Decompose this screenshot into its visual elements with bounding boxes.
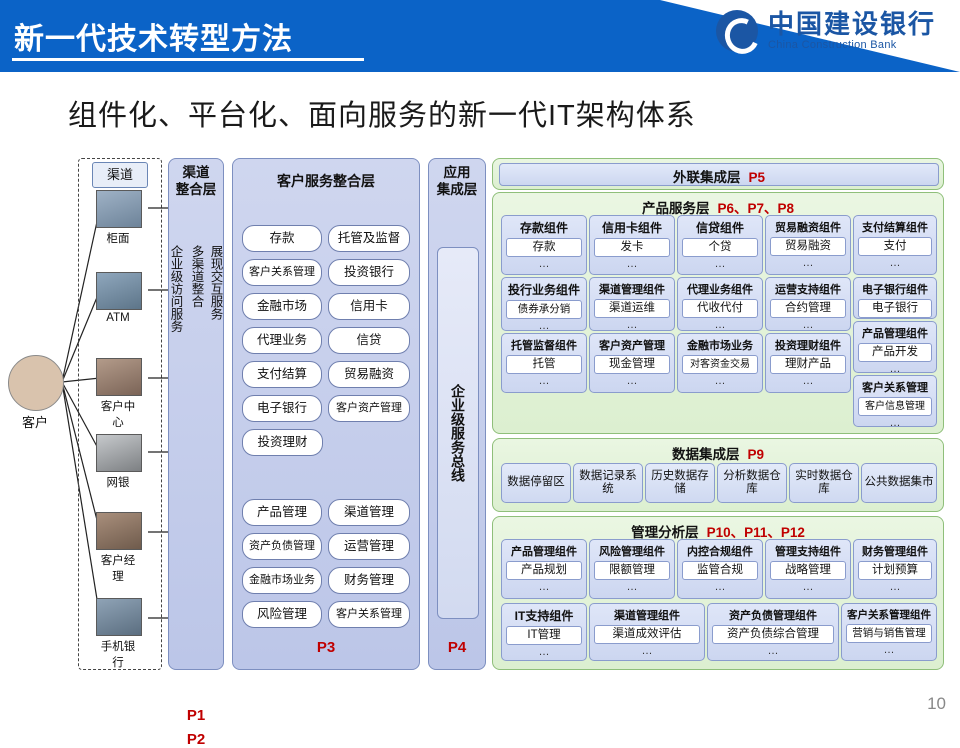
channel-label: 网银	[96, 474, 140, 490]
component-card[interactable]: 支付结算组件 支付 …	[853, 215, 937, 275]
channel-label: 客户经理	[96, 552, 140, 584]
card-dots: …	[842, 645, 936, 656]
service-pill[interactable]: 金融市场业务	[242, 567, 322, 594]
component-card[interactable]: 信贷组件 个贷 …	[677, 215, 763, 275]
card-item: 贸易融资	[770, 237, 846, 256]
data-box[interactable]: 公共数据集市	[861, 463, 937, 503]
data-integration-title-text: 数据集成层	[672, 447, 740, 462]
group-management-analysis-title: 管理分析层P10、P11、P12	[493, 517, 943, 541]
service-pill[interactable]: 贸易融资	[328, 361, 410, 388]
card-title: 资产负债管理组件	[708, 604, 838, 625]
group-data-integration: 数据集成层P9 数据停留区 数据记录系统 历史数据存储 分析数据仓库 实时数据仓…	[492, 438, 944, 512]
group-external-integration-title: 外联集成层P5	[500, 164, 938, 186]
card-dots: …	[502, 259, 586, 270]
service-pill[interactable]: 资产负债管理	[242, 533, 322, 560]
group-management-analysis: 管理分析层P10、P11、P12 产品管理组件 产品规划 … 风险管理组件 限额…	[492, 516, 944, 670]
card-dots: …	[854, 364, 936, 375]
channel-label: 柜面	[96, 230, 140, 246]
header-underline	[12, 58, 364, 61]
card-item: 电子银行	[858, 299, 932, 318]
column-channel-integration-title: 渠道整合层	[169, 159, 223, 199]
card-item: 发卡	[594, 238, 670, 257]
card-item: 支付	[858, 237, 932, 256]
group-data-integration-title: 数据集成层P9	[493, 439, 943, 463]
data-box[interactable]: 分析数据仓库	[717, 463, 787, 503]
card-dots: …	[766, 376, 850, 387]
channel-online-banking[interactable]: 网银	[96, 434, 140, 490]
component-card[interactable]: 代理业务组件 代收代付 …	[677, 277, 763, 331]
service-pill[interactable]: 存款	[242, 225, 322, 252]
channel-label: 客户中心	[96, 398, 140, 430]
customer-label: 客户	[3, 412, 67, 431]
card-item: 营销与销售管理	[846, 624, 932, 643]
product-service-pn: P6、P7、P8	[717, 201, 794, 216]
card-title: 贸易融资组件	[766, 216, 850, 237]
card-title: 渠道管理组件	[590, 604, 704, 625]
card-item: 现金管理	[594, 355, 670, 374]
card-title: 财务管理组件	[854, 540, 936, 561]
ccb-logo-text: 中国建设银行 China Construction Bank	[768, 10, 936, 51]
service-pill[interactable]: 客户关系管理	[328, 601, 410, 628]
data-box[interactable]: 历史数据存储	[645, 463, 715, 503]
ccb-logo-en: China Construction Bank	[768, 39, 936, 51]
card-dots: …	[590, 582, 674, 593]
group-product-service: 产品服务层P6、P7、P8 存款组件 存款 … 信用卡组件 发卡 … 信贷组件 …	[492, 192, 944, 434]
card-title: 管理支持组件	[766, 540, 850, 561]
component-card[interactable]: 电子银行组件 电子银行	[853, 277, 937, 319]
service-pill[interactable]: 风险管理	[242, 601, 322, 628]
component-card[interactable]: IT支持组件 IT管理 …	[501, 603, 587, 661]
channel-mobile-banking[interactable]: 手机银行	[96, 598, 140, 670]
component-card[interactable]: 投资理财组件 理财产品 …	[765, 333, 851, 393]
component-card[interactable]: 客户资产管理 现金管理 …	[589, 333, 675, 393]
tag-p1: P1	[169, 707, 223, 724]
service-pill[interactable]: 代理业务	[242, 327, 322, 354]
component-card[interactable]: 托管监督组件 托管 …	[501, 333, 587, 393]
card-title: 渠道管理组件	[590, 278, 674, 299]
card-item: 代收代付	[682, 299, 758, 318]
component-card[interactable]: 管理支持组件 战略管理 …	[765, 539, 851, 599]
card-title: IT支持组件	[502, 604, 586, 626]
service-pill[interactable]: 渠道管理	[328, 499, 410, 526]
slide-number: 10	[927, 694, 946, 714]
card-item: 产品开发	[858, 343, 932, 362]
card-item: 渠道成效评估	[594, 625, 700, 644]
external-pn: P5	[748, 170, 765, 185]
service-pill[interactable]: 支付结算	[242, 361, 322, 388]
management-analysis-pn: P10、P11、P12	[707, 525, 805, 540]
channel-photo-icon	[96, 434, 142, 472]
ccb-logo-cn: 中国建设银行	[768, 10, 936, 39]
customer-avatar	[8, 355, 64, 411]
component-card[interactable]: 内控合规组件 监管合规 …	[677, 539, 763, 599]
data-integration-pn: P9	[747, 447, 764, 462]
channel-label: ATM	[96, 312, 140, 324]
card-title: 内控合规组件	[678, 540, 762, 561]
tag-p4: P4	[429, 639, 485, 656]
channel-counter[interactable]: 柜面	[96, 190, 140, 246]
channel-group-label: 渠道	[92, 162, 148, 188]
column-customer-service: 客户服务整合层 存款托管及监督 客户关系管理投资银行 金融市场信用卡 代理业务信…	[232, 158, 420, 670]
card-item: 战略管理	[770, 561, 846, 580]
tag-p3: P3	[233, 639, 419, 656]
service-pill[interactable]: 投资理财	[242, 429, 323, 456]
channel-photo-icon	[96, 358, 142, 396]
component-card[interactable]: 产品管理组件 产品开发 …	[853, 321, 937, 373]
card-dots: …	[766, 320, 850, 331]
card-dots: …	[678, 376, 762, 387]
card-title: 信贷组件	[678, 216, 762, 238]
card-dots: …	[854, 582, 936, 593]
ccb-logo-icon: 中国建设银行 China Construction Bank	[716, 10, 936, 52]
channel-photo-icon	[96, 598, 142, 636]
enterprise-service-bus: 企业级服务总线	[437, 247, 479, 619]
card-item: IT管理	[506, 626, 582, 645]
card-dots: …	[590, 259, 674, 270]
ccb-mark-icon	[716, 10, 758, 52]
card-item: 渠道运维	[594, 299, 670, 318]
card-item: 债券承分销	[506, 300, 582, 319]
card-item: 限额管理	[594, 561, 670, 580]
column-channel-vertical-text: 展现交互服务 多渠道整合	[188, 245, 226, 575]
column-app-integration-title: 应用集成层	[429, 159, 485, 199]
card-dots: …	[590, 320, 674, 331]
channel-photo-icon	[96, 272, 142, 310]
service-pill[interactable]: 金融市场	[242, 293, 322, 320]
component-card[interactable]: 客户关系管理组件 营销与销售管理 …	[841, 603, 937, 661]
service-pill[interactable]: 运营管理	[328, 533, 410, 560]
card-item: 监管合规	[682, 561, 758, 580]
component-card[interactable]: 客户关系管理 客户信息管理 …	[853, 375, 937, 427]
service-pill[interactable]: 电子银行	[242, 395, 322, 422]
management-analysis-title-text: 管理分析层	[631, 525, 699, 540]
component-card[interactable]: 金融市场业务 对客资金交易 …	[677, 333, 763, 393]
card-title: 客户关系管理组件	[842, 604, 936, 624]
card-dots: …	[590, 646, 704, 657]
tag-p2: P2	[169, 731, 223, 748]
card-dots: …	[678, 582, 762, 593]
card-title: 金融市场业务	[678, 334, 762, 355]
page-title: 组件化、平台化、面向服务的新一代IT架构体系	[68, 92, 696, 134]
external-title-text: 外联集成层	[673, 170, 741, 185]
group-product-service-title: 产品服务层P6、P7、P8	[493, 193, 943, 217]
card-title: 客户资产管理	[590, 334, 674, 355]
channel-photo-icon	[96, 512, 142, 550]
card-title: 投行业务组件	[502, 278, 586, 300]
header-title: 新一代技术转型方法	[14, 14, 293, 58]
card-item: 资产负债综合管理	[712, 625, 834, 644]
channel-call-center[interactable]: 客户中心	[96, 358, 140, 430]
group-external-integration: 外联集成层P5	[492, 158, 944, 190]
card-item: 托管	[506, 355, 582, 374]
data-box[interactable]: 数据停留区	[501, 463, 571, 503]
component-card[interactable]: 风险管理组件 限额管理 …	[589, 539, 675, 599]
card-title: 运营支持组件	[766, 278, 850, 299]
card-title: 信用卡组件	[590, 216, 674, 238]
card-title: 风险管理组件	[590, 540, 674, 561]
card-dots: …	[502, 582, 586, 593]
card-item: 产品规划	[506, 561, 582, 580]
column-channel-integration: 渠道整合层 企业级访问服务 展现交互服务 多渠道整合 P1 P2	[168, 158, 224, 670]
channel-label: 手机银行	[96, 638, 140, 670]
card-item: 个贷	[682, 238, 758, 257]
data-box[interactable]: 数据记录系统	[573, 463, 643, 503]
card-dots: …	[678, 320, 762, 331]
component-card[interactable]: 财务管理组件 计划预算 …	[853, 539, 937, 599]
column-app-integration: 应用集成层 企业级服务总线 P4	[428, 158, 486, 670]
card-item: 计划预算	[858, 561, 932, 580]
component-card[interactable]: 信用卡组件 发卡 …	[589, 215, 675, 275]
column-channel-vertical-text-2: 企业级访问服务	[167, 245, 186, 575]
component-card[interactable]: 运营支持组件 合约管理 …	[765, 277, 851, 331]
component-card[interactable]: 资产负债管理组件 资产负债综合管理 …	[707, 603, 839, 661]
data-box[interactable]: 实时数据仓库	[789, 463, 859, 503]
card-dots: …	[502, 647, 586, 658]
card-title: 存款组件	[502, 216, 586, 238]
card-dots: …	[854, 418, 936, 429]
card-item: 合约管理	[770, 299, 846, 318]
card-title: 投资理财组件	[766, 334, 850, 355]
card-dots: …	[502, 321, 586, 332]
card-dots: …	[854, 258, 936, 269]
card-title: 产品管理组件	[854, 322, 936, 343]
card-title: 代理业务组件	[678, 278, 762, 299]
card-item: 客户信息管理	[858, 397, 932, 416]
product-service-title-text: 产品服务层	[642, 201, 710, 216]
component-card[interactable]: 渠道管理组件 渠道成效评估 …	[589, 603, 705, 661]
card-title: 托管监督组件	[502, 334, 586, 355]
card-item: 存款	[506, 238, 582, 257]
service-pill[interactable]: 托管及监督	[328, 225, 410, 252]
card-title: 产品管理组件	[502, 540, 586, 561]
card-dots: …	[766, 258, 850, 269]
card-item: 对客资金交易	[682, 355, 758, 374]
card-item: 理财产品	[770, 355, 846, 374]
component-card[interactable]: 渠道管理组件 渠道运维 …	[589, 277, 675, 331]
service-pill[interactable]: 信贷	[328, 327, 410, 354]
service-pill[interactable]: 财务管理	[328, 567, 410, 594]
component-card[interactable]: 存款组件 存款 …	[501, 215, 587, 275]
card-dots: …	[590, 376, 674, 387]
channel-atm[interactable]: ATM	[96, 272, 140, 324]
card-title: 客户关系管理	[854, 376, 936, 397]
service-pill[interactable]: 投资银行	[328, 259, 410, 286]
card-title: 支付结算组件	[854, 216, 936, 237]
component-card[interactable]: 投行业务组件 债券承分销 …	[501, 277, 587, 331]
component-card[interactable]: 产品管理组件 产品规划 …	[501, 539, 587, 599]
channel-photo-icon	[96, 190, 142, 228]
service-pill[interactable]: 信用卡	[328, 293, 410, 320]
card-dots: …	[502, 376, 586, 387]
card-title: 电子银行组件	[854, 278, 936, 299]
column-customer-service-title: 客户服务整合层	[233, 159, 419, 191]
card-dots: …	[678, 259, 762, 270]
card-dots: …	[766, 582, 850, 593]
card-dots: …	[708, 646, 838, 657]
esb-label: 企业级服务总线	[448, 384, 468, 482]
channel-account-manager[interactable]: 客户经理	[96, 512, 140, 584]
service-pill[interactable]: 客户资产管理	[328, 395, 410, 422]
service-pill[interactable]: 产品管理	[242, 499, 322, 526]
component-card[interactable]: 贸易融资组件 贸易融资 …	[765, 215, 851, 275]
service-pill[interactable]: 客户关系管理	[242, 259, 322, 286]
